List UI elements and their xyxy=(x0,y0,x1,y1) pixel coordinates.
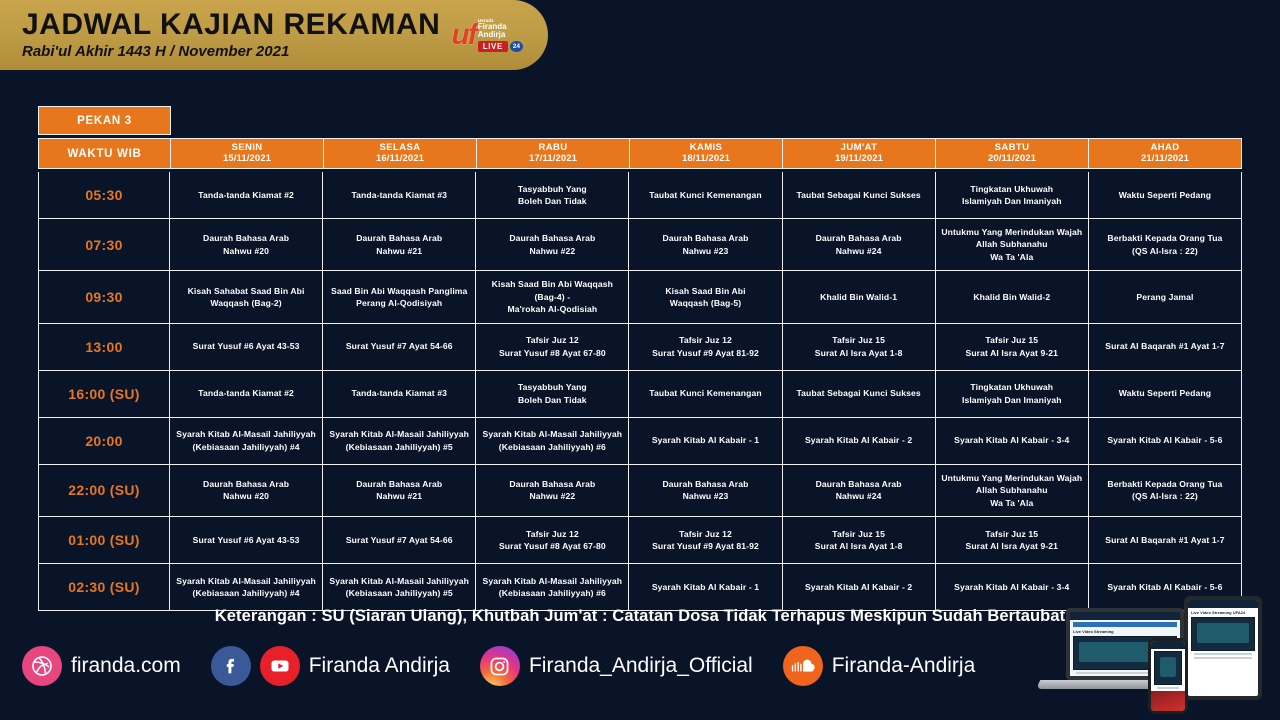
session-line: Boleh Dan Tidak xyxy=(518,394,587,406)
session-line: Surat Yusuf #7 Ayat 54-66 xyxy=(346,340,453,352)
session-text: Tafsir Juz 15Surat Al Isra Ayat 1-8 xyxy=(815,334,903,359)
session-cell: Syarah Kitab Al-Masail Jahiliyyah(Kebias… xyxy=(323,564,476,610)
session-text: Tasyabbuh YangBoleh Dan Tidak xyxy=(518,183,587,208)
session-text: Surat Al Baqarah #1 Ayat 1-7 xyxy=(1105,340,1224,352)
session-line: Daurah Bahasa Arab xyxy=(356,478,442,490)
session-cell: Syarah Kitab Al-Masail Jahiliyyah(Kebias… xyxy=(170,564,323,610)
header-banner: JADWAL KAJIAN REKAMAN Rabi'ul Akhir 1443… xyxy=(0,0,548,70)
session-cell: Daurah Bahasa ArabNahwu #20 xyxy=(170,219,323,270)
session-text: Surat Yusuf #7 Ayat 54-66 xyxy=(346,534,453,546)
social-label-website: firanda.com xyxy=(71,654,181,678)
session-text: Tafsir Juz 12Surat Yusuf #8 Ayat 67-80 xyxy=(499,334,606,359)
session-line: Nahwu #24 xyxy=(816,245,902,257)
session-text: Syarah Kitab Al Kabair - 5-6 xyxy=(1107,434,1222,446)
session-line: Islamiyah Dan Imaniyah xyxy=(962,394,1062,406)
session-line: Tafsir Juz 15 xyxy=(815,528,903,540)
session-text: Saad Bin Abi Waqqash PanglimaPerang Al-Q… xyxy=(331,285,467,310)
session-line: Berbakti Kepada Orang Tua xyxy=(1107,478,1222,490)
session-cell: Tasyabbuh YangBoleh Dan Tidak xyxy=(476,371,629,417)
session-line: Syarah Kitab Al-Masail Jahiliyyah xyxy=(329,428,469,440)
session-line: Syarah Kitab Al Kabair - 1 xyxy=(652,581,759,593)
header-text-block: JADWAL KAJIAN REKAMAN Rabi'ul Akhir 1443… xyxy=(0,10,440,61)
facebook-icon[interactable] xyxy=(211,646,251,686)
session-line: Tanda-tanda Kiamat #3 xyxy=(351,387,447,399)
session-cell: Syarah Kitab Al Kabair - 1 xyxy=(629,564,782,610)
live-badge: LIVE xyxy=(478,41,508,52)
session-line: Daurah Bahasa Arab xyxy=(662,478,748,490)
session-line: Tanda-tanda Kiamat #3 xyxy=(351,189,447,201)
laptop-screen-navbar xyxy=(1073,622,1177,627)
session-line: Wa Ta 'Ala xyxy=(941,251,1082,263)
session-cell: Surat Yusuf #6 Ayat 43-53 xyxy=(170,324,323,370)
session-text: Tingkatan UkhuwahIslamiyah Dan Imaniyah xyxy=(962,183,1062,208)
session-text: Syarah Kitab Al-Masail Jahiliyyah(Kebias… xyxy=(176,575,316,600)
social-group-instagram[interactable]: Firanda_Andirja_Official xyxy=(480,646,753,686)
social-bar: firanda.com Firanda Andirja xyxy=(22,646,991,686)
session-line: Syarah Kitab Al-Masail Jahiliyyah xyxy=(176,428,316,440)
session-text: Tanda-tanda Kiamat #3 xyxy=(351,189,447,201)
session-cell: Perang Jamal xyxy=(1089,271,1241,322)
session-line: Surat Al Baqarah #1 Ayat 1-7 xyxy=(1105,340,1224,352)
time-cell: 02:30 (SU) xyxy=(39,564,170,610)
session-line: Tasyabbuh Yang xyxy=(518,183,587,195)
session-line: Perang Al-Qodisiyah xyxy=(331,297,467,309)
session-cell: Tafsir Juz 15Surat Al Isra Ayat 9-21 xyxy=(936,517,1089,563)
session-cell: Surat Yusuf #7 Ayat 54-66 xyxy=(323,517,476,563)
time-cell: 22:00 (SU) xyxy=(39,465,170,516)
day-date: 20/11/2021 xyxy=(988,154,1036,165)
day-name: JUM'AT xyxy=(841,143,878,154)
soundcloud-icon[interactable] xyxy=(783,646,823,686)
session-line: Perang Jamal xyxy=(1136,291,1193,303)
session-cell: Untukmu Yang Merindukan WajahAllah Subha… xyxy=(936,219,1089,270)
table-row: 16:00 (SU)Tanda-tanda Kiamat #2Tanda-tan… xyxy=(39,370,1241,417)
session-text: Waktu Seperti Pedang xyxy=(1119,387,1211,399)
session-cell: Surat Al Baqarah #1 Ayat 1-7 xyxy=(1089,517,1241,563)
session-line: Kisah Sahabat Saad Bin Abi xyxy=(188,285,305,297)
session-text: Daurah Bahasa ArabNahwu #20 xyxy=(203,478,289,503)
tablet-line-1 xyxy=(1194,653,1252,655)
session-line: (QS Al-Isra : 22) xyxy=(1107,490,1222,502)
session-line: Berbakti Kepada Orang Tua xyxy=(1107,232,1222,244)
table-row: 05:30Tanda-tanda Kiamat #2Tanda-tanda Ki… xyxy=(39,172,1241,218)
session-line: Allah Subhanahu xyxy=(941,238,1082,250)
session-line: Waktu Seperti Pedang xyxy=(1119,387,1211,399)
session-line: Tafsir Juz 15 xyxy=(965,334,1058,346)
session-text: Berbakti Kepada Orang Tua(QS Al-Isra : 2… xyxy=(1107,478,1222,503)
schedule-table: PEKAN 3 WAKTU WIB SENIN15/11/2021SELASA1… xyxy=(38,106,1242,611)
session-text: Surat Yusuf #6 Ayat 43-53 xyxy=(193,340,300,352)
session-text: Perang Jamal xyxy=(1136,291,1193,303)
tablet-title: Live Video Streaming UFA24 xyxy=(1191,610,1255,615)
day-name: SELASA xyxy=(380,143,421,154)
session-line: Taubat Kunci Kemenangan xyxy=(649,189,761,201)
social-group-facebook-youtube[interactable]: Firanda Andirja xyxy=(211,646,450,686)
table-row: 01:00 (SU)Surat Yusuf #6 Ayat 43-53Surat… xyxy=(39,516,1241,563)
session-line: Waktu Seperti Pedang xyxy=(1119,189,1211,201)
session-text: Taubat Kunci Kemenangan xyxy=(649,189,761,201)
session-text: Tasyabbuh YangBoleh Dan Tidak xyxy=(518,381,587,406)
session-cell: Kisah Saad Bin Abi Waqqash (Bag-4) -Ma'r… xyxy=(476,271,629,322)
tablet-line-2 xyxy=(1194,657,1252,659)
session-line: Waqqash (Bag-2) xyxy=(188,297,305,309)
phone-video-inner xyxy=(1160,657,1176,677)
session-text: Tingkatan UkhuwahIslamiyah Dan Imaniyah xyxy=(962,381,1062,406)
session-line: Taubat Kunci Kemenangan xyxy=(649,387,761,399)
dribbble-icon[interactable] xyxy=(22,646,62,686)
session-line: Syarah Kitab Al Kabair - 3-4 xyxy=(954,434,1069,446)
session-line: Daurah Bahasa Arab xyxy=(816,478,902,490)
session-line: Syarah Kitab Al-Masail Jahiliyyah xyxy=(483,575,623,587)
session-cell: Surat Yusuf #6 Ayat 43-53 xyxy=(170,517,323,563)
pekan-label: PEKAN 3 xyxy=(38,106,171,135)
session-text: Tafsir Juz 12Surat Yusuf #9 Ayat 81-92 xyxy=(652,334,759,359)
session-text: Tafsir Juz 15Surat Al Isra Ayat 9-21 xyxy=(965,528,1058,553)
session-cell: Tafsir Juz 12Surat Yusuf #9 Ayat 81-92 xyxy=(629,324,782,370)
session-cell: Waktu Seperti Pedang xyxy=(1089,371,1241,417)
session-line: Surat Al Baqarah #1 Ayat 1-7 xyxy=(1105,534,1224,546)
session-cell: Daurah Bahasa ArabNahwu #22 xyxy=(476,219,629,270)
social-label-instagram: Firanda_Andirja_Official xyxy=(529,654,753,678)
pekan-row: PEKAN 3 xyxy=(38,106,1242,135)
session-text: Syarah Kitab Al Kabair - 5-6 xyxy=(1107,581,1222,593)
session-line: Daurah Bahasa Arab xyxy=(662,232,748,244)
session-line: (Kebiasaan Jahiliyyah) #6 xyxy=(483,587,623,599)
firanda-andirja-logo: uf Ustadz Firanda Andirja LIVE 24 xyxy=(440,6,534,64)
session-line: Daurah Bahasa Arab xyxy=(509,232,595,244)
social-label-youtube: Firanda Andirja xyxy=(309,654,450,678)
session-line: Daurah Bahasa Arab xyxy=(203,478,289,490)
session-line: Syarah Kitab Al-Masail Jahiliyyah xyxy=(329,575,469,587)
table-row: 07:30Daurah Bahasa ArabNahwu #20Daurah B… xyxy=(39,218,1241,270)
session-cell: Syarah Kitab Al-Masail Jahiliyyah(Kebias… xyxy=(476,564,629,610)
session-line: Nahwu #20 xyxy=(203,490,289,502)
session-line: Surat Yusuf #6 Ayat 43-53 xyxy=(193,340,300,352)
session-cell: Tingkatan UkhuwahIslamiyah Dan Imaniyah xyxy=(936,371,1089,417)
time-cell: 13:00 xyxy=(39,324,170,370)
session-cell: Tanda-tanda Kiamat #3 xyxy=(323,172,476,218)
tablet-screen: Live Video Streaming UFA24 xyxy=(1184,596,1262,700)
session-line: Syarah Kitab Al Kabair - 2 xyxy=(805,581,912,593)
session-text: Daurah Bahasa ArabNahwu #22 xyxy=(509,478,595,503)
table-row: 09:30Kisah Sahabat Saad Bin AbiWaqqash (… xyxy=(39,270,1241,322)
session-cell: Daurah Bahasa ArabNahwu #21 xyxy=(323,465,476,516)
table-row: 13:00Surat Yusuf #6 Ayat 43-53Surat Yusu… xyxy=(39,323,1241,370)
tablet-video xyxy=(1191,617,1255,651)
day-header-rabu: RABU17/11/2021 xyxy=(477,138,630,169)
schedule-poster: JADWAL KAJIAN REKAMAN Rabi'ul Akhir 1443… xyxy=(0,0,1280,720)
session-cell: Daurah Bahasa ArabNahwu #24 xyxy=(783,465,936,516)
session-line: Islamiyah Dan Imaniyah xyxy=(962,195,1062,207)
laptop-screen-topbar xyxy=(1070,612,1180,620)
channel-24-badge: 24 xyxy=(510,41,523,52)
day-name: SABTU xyxy=(995,143,1030,154)
session-text: Tafsir Juz 12Surat Yusuf #9 Ayat 81-92 xyxy=(652,528,759,553)
waktu-header: WAKTU WIB xyxy=(38,138,171,169)
session-cell: Tanda-tanda Kiamat #2 xyxy=(170,371,323,417)
session-text: Untukmu Yang Merindukan WajahAllah Subha… xyxy=(941,472,1082,509)
session-cell: Tafsir Juz 12Surat Yusuf #8 Ayat 67-80 xyxy=(476,517,629,563)
session-line: Untukmu Yang Merindukan Wajah xyxy=(941,226,1082,238)
time-cell: 01:00 (SU) xyxy=(39,517,170,563)
session-cell: Berbakti Kepada Orang Tua(QS Al-Isra : 2… xyxy=(1089,465,1241,516)
session-line: Daurah Bahasa Arab xyxy=(509,478,595,490)
session-line: Tafsir Juz 15 xyxy=(815,334,903,346)
table-row: 22:00 (SU)Daurah Bahasa ArabNahwu #20Dau… xyxy=(39,464,1241,516)
session-line: Surat Yusuf #9 Ayat 81-92 xyxy=(652,540,759,552)
table-body: 05:30Tanda-tanda Kiamat #2Tanda-tanda Ki… xyxy=(38,172,1242,611)
session-cell: Tafsir Juz 12Surat Yusuf #9 Ayat 81-92 xyxy=(629,517,782,563)
session-line: Tasyabbuh Yang xyxy=(518,381,587,393)
session-line: Surat Yusuf #9 Ayat 81-92 xyxy=(652,347,759,359)
session-line: Tafsir Juz 15 xyxy=(965,528,1058,540)
day-date: 18/11/2021 xyxy=(682,154,730,165)
session-line: Daurah Bahasa Arab xyxy=(203,232,289,244)
session-text: Syarah Kitab Al Kabair - 3-4 xyxy=(954,434,1069,446)
session-cell: Syarah Kitab Al Kabair - 2 xyxy=(783,564,936,610)
tablet-video-inner xyxy=(1197,623,1249,643)
session-text: Syarah Kitab Al Kabair - 2 xyxy=(805,434,912,446)
session-line: Syarah Kitab Al Kabair - 1 xyxy=(652,434,759,446)
table-row: 20:00Syarah Kitab Al-Masail Jahiliyyah(K… xyxy=(39,417,1241,464)
day-header-kamis: KAMIS18/11/2021 xyxy=(630,138,783,169)
session-line: Surat Al Isra Ayat 9-21 xyxy=(965,540,1058,552)
session-text: Syarah Kitab Al-Masail Jahiliyyah(Kebias… xyxy=(329,575,469,600)
session-text: Surat Yusuf #6 Ayat 43-53 xyxy=(193,534,300,546)
time-cell: 07:30 xyxy=(39,219,170,270)
session-text: Untukmu Yang Merindukan WajahAllah Subha… xyxy=(941,226,1082,263)
session-cell: Khalid Bin Walid-2 xyxy=(936,271,1089,322)
session-line: Syarah Kitab Al-Masail Jahiliyyah xyxy=(483,428,623,440)
session-line: Nahwu #24 xyxy=(816,490,902,502)
session-line: Khalid Bin Walid-2 xyxy=(973,291,1050,303)
session-line: Untukmu Yang Merindukan Wajah xyxy=(941,472,1082,484)
session-text: Berbakti Kepada Orang Tua(QS Al-Isra : 2… xyxy=(1107,232,1222,257)
phone-screen xyxy=(1148,638,1188,714)
session-line: Surat Yusuf #8 Ayat 67-80 xyxy=(499,347,606,359)
session-cell: Daurah Bahasa ArabNahwu #21 xyxy=(323,219,476,270)
session-line: Tafsir Juz 12 xyxy=(499,528,606,540)
session-cell: Surat Yusuf #7 Ayat 54-66 xyxy=(323,324,476,370)
time-cell: 09:30 xyxy=(39,271,170,322)
session-cell: Daurah Bahasa ArabNahwu #23 xyxy=(629,465,782,516)
session-line: (Kebiasaan Jahiliyyah) #6 xyxy=(483,441,623,453)
session-cell: Tafsir Juz 15Surat Al Isra Ayat 1-8 xyxy=(783,324,936,370)
session-text: Daurah Bahasa ArabNahwu #20 xyxy=(203,232,289,257)
session-text: Tafsir Juz 15Surat Al Isra Ayat 9-21 xyxy=(965,334,1058,359)
session-text: Tanda-tanda Kiamat #3 xyxy=(351,387,447,399)
session-line: Tanda-tanda Kiamat #2 xyxy=(198,189,294,201)
instagram-icon[interactable] xyxy=(480,646,520,686)
session-line: Nahwu #22 xyxy=(509,245,595,257)
day-name: RABU xyxy=(538,143,567,154)
social-label-soundcloud: Firanda-Andirja xyxy=(832,654,976,678)
session-line: (Kebiasaan Jahiliyyah) #4 xyxy=(176,441,316,453)
session-cell: Tafsir Juz 12Surat Yusuf #8 Ayat 67-80 xyxy=(476,324,629,370)
day-name: AHAD xyxy=(1150,143,1179,154)
session-text: Daurah Bahasa ArabNahwu #22 xyxy=(509,232,595,257)
session-cell: Syarah Kitab Al Kabair - 2 xyxy=(783,418,936,464)
session-line: Nahwu #20 xyxy=(203,245,289,257)
session-text: Kisah Sahabat Saad Bin AbiWaqqash (Bag-2… xyxy=(188,285,305,310)
time-cell: 16:00 (SU) xyxy=(39,371,170,417)
session-line: (Kebiasaan Jahiliyyah) #4 xyxy=(176,587,316,599)
session-text: Khalid Bin Walid-1 xyxy=(820,291,897,303)
day-header-senin: SENIN15/11/2021 xyxy=(171,138,324,169)
session-text: Syarah Kitab Al Kabair - 1 xyxy=(652,581,759,593)
session-text: Waktu Seperti Pedang xyxy=(1119,189,1211,201)
time-cell: 05:30 xyxy=(39,172,170,218)
logo-text-block: Ustadz Firanda Andirja LIVE 24 xyxy=(478,18,523,52)
logo-name-line2: Andirja xyxy=(478,31,506,39)
session-text: Surat Al Baqarah #1 Ayat 1-7 xyxy=(1105,534,1224,546)
session-cell: Saad Bin Abi Waqqash PanglimaPerang Al-Q… xyxy=(323,271,476,322)
session-line: (QS Al-Isra : 22) xyxy=(1107,245,1222,257)
session-line: Nahwu #22 xyxy=(509,490,595,502)
session-line: Taubat Sebagai Kunci Sukses xyxy=(796,189,920,201)
session-line: Wa Ta 'Ala xyxy=(941,497,1082,509)
session-cell: Khalid Bin Walid-1 xyxy=(783,271,936,322)
session-text: Syarah Kitab Al-Masail Jahiliyyah(Kebias… xyxy=(176,428,316,453)
session-line: Saad Bin Abi Waqqash Panglima xyxy=(331,285,467,297)
session-cell: Taubat Kunci Kemenangan xyxy=(629,172,782,218)
session-cell: Surat Al Baqarah #1 Ayat 1-7 xyxy=(1089,324,1241,370)
phone-line xyxy=(1157,687,1179,689)
day-date: 19/11/2021 xyxy=(835,154,883,165)
day-date: 15/11/2021 xyxy=(223,154,271,165)
page-title: JADWAL KAJIAN REKAMAN xyxy=(22,10,440,41)
session-text: Khalid Bin Walid-2 xyxy=(973,291,1050,303)
session-text: Syarah Kitab Al Kabair - 1 xyxy=(652,434,759,446)
day-header-sabtu: SABTU20/11/2021 xyxy=(936,138,1089,169)
session-line: Khalid Bin Walid-1 xyxy=(820,291,897,303)
social-group-website[interactable]: firanda.com xyxy=(22,646,181,686)
device-mockup: Live Video Streaming Live Video Streamin… xyxy=(1036,594,1278,716)
session-line: Syarah Kitab Al Kabair - 5-6 xyxy=(1107,581,1222,593)
phone-video xyxy=(1154,651,1182,685)
session-line: Nahwu #21 xyxy=(356,245,442,257)
tablet-topbar xyxy=(1188,600,1258,608)
session-line: Tingkatan Ukhuwah xyxy=(962,183,1062,195)
session-text: Tafsir Juz 12Surat Yusuf #8 Ayat 67-80 xyxy=(499,528,606,553)
session-cell: Syarah Kitab Al-Masail Jahiliyyah(Kebias… xyxy=(170,418,323,464)
session-cell: Tafsir Juz 15Surat Al Isra Ayat 1-8 xyxy=(783,517,936,563)
session-cell: Daurah Bahasa ArabNahwu #23 xyxy=(629,219,782,270)
session-line: Surat Al Isra Ayat 1-8 xyxy=(815,540,903,552)
session-text: Daurah Bahasa ArabNahwu #23 xyxy=(662,478,748,503)
session-line: Daurah Bahasa Arab xyxy=(356,232,442,244)
session-line: Nahwu #23 xyxy=(662,245,748,257)
session-cell: Tasyabbuh YangBoleh Dan Tidak xyxy=(476,172,629,218)
session-cell: Syarah Kitab Al Kabair - 3-4 xyxy=(936,418,1089,464)
time-cell: 20:00 xyxy=(39,418,170,464)
session-text: Daurah Bahasa ArabNahwu #21 xyxy=(356,232,442,257)
session-text: Daurah Bahasa ArabNahwu #24 xyxy=(816,232,902,257)
session-line: Tingkatan Ukhuwah xyxy=(962,381,1062,393)
session-cell: Syarah Kitab Al-Masail Jahiliyyah(Kebias… xyxy=(476,418,629,464)
day-date: 16/11/2021 xyxy=(376,154,424,165)
social-group-soundcloud[interactable]: Firanda-Andirja xyxy=(783,646,976,686)
session-cell: Waktu Seperti Pedang xyxy=(1089,172,1241,218)
session-line: Allah Subhanahu xyxy=(941,484,1082,496)
session-cell: Berbakti Kepada Orang Tua(QS Al-Isra : 2… xyxy=(1089,219,1241,270)
session-text: Syarah Kitab Al Kabair - 3-4 xyxy=(954,581,1069,593)
uf-monogram-icon: uf xyxy=(451,20,475,50)
session-line: Tafsir Juz 12 xyxy=(499,334,606,346)
session-text: Taubat Kunci Kemenangan xyxy=(649,387,761,399)
session-cell: Taubat Kunci Kemenangan xyxy=(629,371,782,417)
session-line: (Kebiasaan Jahiliyyah) #5 xyxy=(329,441,469,453)
session-line: Syarah Kitab Al Kabair - 3-4 xyxy=(954,581,1069,593)
session-line: Surat Al Isra Ayat 1-8 xyxy=(815,347,903,359)
session-text: Syarah Kitab Al Kabair - 2 xyxy=(805,581,912,593)
session-line: Surat Yusuf #7 Ayat 54-66 xyxy=(346,534,453,546)
table-header-row: WAKTU WIB SENIN15/11/2021SELASA16/11/202… xyxy=(38,138,1242,169)
page-subtitle: Rabi'ul Akhir 1443 H / November 2021 xyxy=(22,43,440,60)
session-cell: Tafsir Juz 15Surat Al Isra Ayat 9-21 xyxy=(936,324,1089,370)
session-cell: Tanda-tanda Kiamat #3 xyxy=(323,371,476,417)
session-line: Boleh Dan Tidak xyxy=(518,195,587,207)
session-text: Taubat Sebagai Kunci Sukses xyxy=(796,189,920,201)
logo-live-row: LIVE 24 xyxy=(478,41,523,52)
phone-topbar xyxy=(1151,641,1185,649)
session-line: Nahwu #23 xyxy=(662,490,748,502)
session-line: Surat Al Isra Ayat 9-21 xyxy=(965,347,1058,359)
session-line: (Kebiasaan Jahiliyyah) #5 xyxy=(329,587,469,599)
youtube-icon[interactable] xyxy=(260,646,300,686)
session-line: Syarah Kitab Al Kabair - 5-6 xyxy=(1107,434,1222,446)
session-text: Daurah Bahasa ArabNahwu #21 xyxy=(356,478,442,503)
session-line: Surat Yusuf #8 Ayat 67-80 xyxy=(499,540,606,552)
session-text: Syarah Kitab Al-Masail Jahiliyyah(Kebias… xyxy=(483,428,623,453)
session-line: Kisah Saad Bin Abi xyxy=(665,285,745,297)
session-text: Syarah Kitab Al-Masail Jahiliyyah(Kebias… xyxy=(483,575,623,600)
session-cell: Syarah Kitab Al Kabair - 5-6 xyxy=(1089,418,1241,464)
session-line: Syarah Kitab Al Kabair - 2 xyxy=(805,434,912,446)
session-text: Tanda-tanda Kiamat #2 xyxy=(198,189,294,201)
session-cell: Kisah Saad Bin AbiWaqqash (Bag-5) xyxy=(629,271,782,322)
session-cell: Daurah Bahasa ArabNahwu #20 xyxy=(170,465,323,516)
session-line: Taubat Sebagai Kunci Sukses xyxy=(796,387,920,399)
session-cell: Syarah Kitab Al Kabair - 1 xyxy=(629,418,782,464)
session-cell: Tingkatan UkhuwahIslamiyah Dan Imaniyah xyxy=(936,172,1089,218)
day-name: KAMIS xyxy=(690,143,723,154)
day-header-jumat: JUM'AT19/11/2021 xyxy=(783,138,936,169)
day-name: SENIN xyxy=(231,143,262,154)
session-text: Taubat Sebagai Kunci Sukses xyxy=(796,387,920,399)
session-line: Tanda-tanda Kiamat #2 xyxy=(198,387,294,399)
laptop-screen-title: Live Video Streaming xyxy=(1073,629,1177,634)
session-cell: Tanda-tanda Kiamat #2 xyxy=(170,172,323,218)
session-line: Tafsir Juz 12 xyxy=(652,334,759,346)
phone-banner xyxy=(1151,691,1185,711)
session-line: Surat Yusuf #6 Ayat 43-53 xyxy=(193,534,300,546)
session-line: Nahwu #21 xyxy=(356,490,442,502)
day-date: 21/11/2021 xyxy=(1141,154,1189,165)
session-text: Tanda-tanda Kiamat #2 xyxy=(198,387,294,399)
session-line: Waqqash (Bag-5) xyxy=(665,297,745,309)
session-line: Daurah Bahasa Arab xyxy=(816,232,902,244)
day-header-ahad: AHAD21/11/2021 xyxy=(1089,138,1242,169)
session-text: Daurah Bahasa ArabNahwu #24 xyxy=(816,478,902,503)
session-cell: Untukmu Yang Merindukan WajahAllah Subha… xyxy=(936,465,1089,516)
session-text: Tafsir Juz 15Surat Al Isra Ayat 1-8 xyxy=(815,528,903,553)
day-date: 17/11/2021 xyxy=(529,154,577,165)
session-line: Tafsir Juz 12 xyxy=(652,528,759,540)
session-text: Kisah Saad Bin Abi Waqqash (Bag-4) -Ma'r… xyxy=(480,278,624,315)
session-text: Daurah Bahasa ArabNahwu #23 xyxy=(662,232,748,257)
session-cell: Kisah Sahabat Saad Bin AbiWaqqash (Bag-2… xyxy=(170,271,323,322)
